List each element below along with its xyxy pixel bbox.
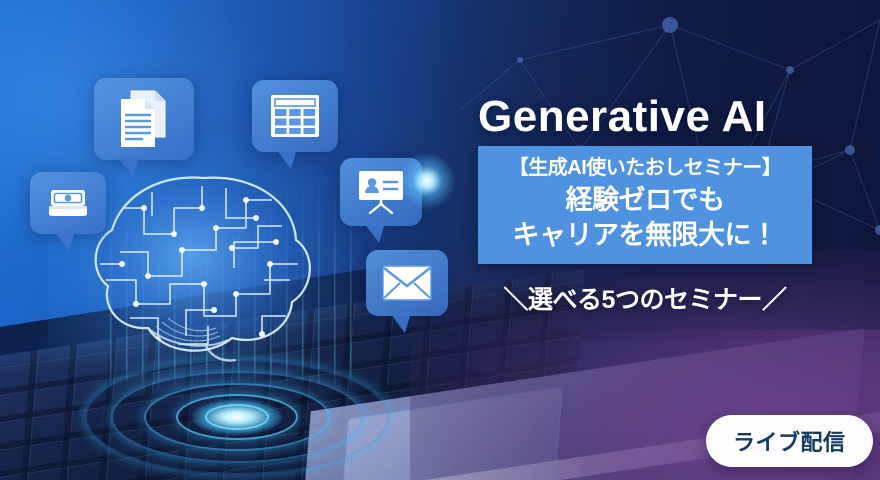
headline-line-3: キャリアを無限大に！ xyxy=(478,218,812,253)
bubble-mail[interactable] xyxy=(366,250,448,316)
hologram-core-glow xyxy=(192,400,282,434)
bubble-document[interactable] xyxy=(94,78,194,160)
promo-banner: Generative AI 【生成AI使いたおしセミナー】 経験ゼロでも キャリ… xyxy=(0,0,880,480)
mail-icon xyxy=(381,264,433,302)
document-icon xyxy=(117,89,171,149)
ai-brain-hologram-icon xyxy=(86,168,328,368)
sparkle-glow xyxy=(398,152,456,210)
money-icon xyxy=(48,187,88,219)
live-stream-badge-label: ライブ配信 xyxy=(733,430,846,455)
headline-line-2: 経験ゼロでも xyxy=(478,183,812,218)
subline-text: ＼選べる5つのセミナー／ xyxy=(478,280,812,316)
bubble-spreadsheet[interactable] xyxy=(252,80,338,152)
headline-line-1: 【生成AI使いたおしセミナー】 xyxy=(478,154,812,183)
bubble-money[interactable] xyxy=(30,172,106,234)
headline-box: 【生成AI使いたおしセミナー】 経験ゼロでも キャリアを無限大に！ xyxy=(478,146,812,264)
spreadsheet-icon xyxy=(269,93,321,139)
live-stream-badge[interactable]: ライブ配信 xyxy=(706,415,873,467)
page-title: Generative AI xyxy=(478,92,767,142)
